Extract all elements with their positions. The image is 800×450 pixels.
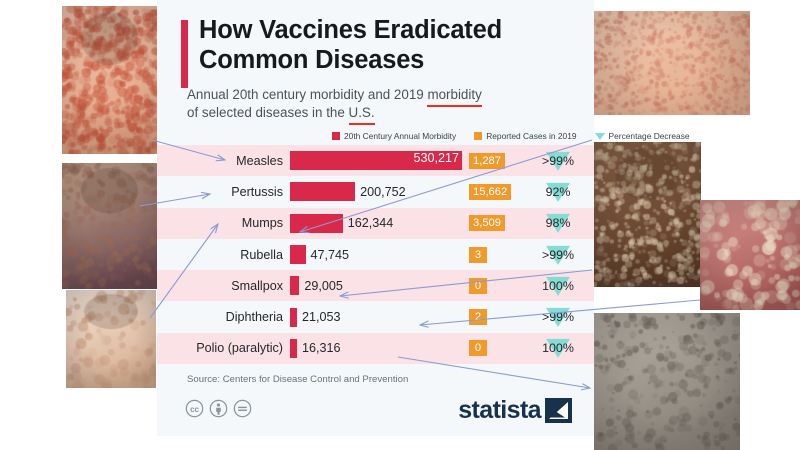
chart-legend: 20th Century Annual MorbidityReported Ca… bbox=[332, 131, 752, 141]
morbidity-bar bbox=[290, 182, 355, 201]
legend-item: Reported Cases in 2019 bbox=[474, 131, 576, 141]
morbidity-value: 16,316 bbox=[302, 341, 341, 355]
row-bar-zone: 47,745 bbox=[290, 239, 465, 270]
title-line-1: How Vaccines Eradicated bbox=[199, 16, 502, 44]
row-category-label: Polio (paralytic) bbox=[161, 341, 283, 355]
row-bar-zone: 162,344 bbox=[290, 208, 465, 239]
percentage-decrease-cell: >99% bbox=[525, 239, 591, 270]
decrease-value: 100% bbox=[542, 341, 574, 355]
creative-commons-icons: cc bbox=[185, 399, 252, 418]
morbidity-value: 47,745 bbox=[311, 248, 350, 262]
photo-smallpox-lesions bbox=[594, 142, 701, 287]
morbidity-bar bbox=[290, 214, 343, 233]
chart-row: Polio (paralytic)16,3160100% bbox=[157, 333, 594, 364]
cases-2019-badge: 15,662 bbox=[469, 184, 511, 200]
morbidity-value: 162,344 bbox=[348, 216, 394, 230]
percentage-decrease-cell: >99% bbox=[525, 145, 591, 176]
subtitle: Annual 20th century morbidity and 2019 m… bbox=[187, 86, 567, 122]
statista-infographic-card: How Vaccines Eradicated Common Diseases … bbox=[157, 0, 594, 436]
photo-polio-wheelchair bbox=[594, 313, 740, 450]
morbidity-value: 200,752 bbox=[360, 185, 406, 199]
subtitle-text-2: of selected diseases in the bbox=[187, 105, 349, 120]
teal-triangle-icon bbox=[595, 133, 605, 140]
cc-no-derivatives-icon bbox=[233, 399, 252, 418]
title-line-2: Common Diseases bbox=[199, 46, 424, 74]
chart-row: Smallpox29,0050100% bbox=[157, 270, 594, 301]
morbidity-bar: 530,217 bbox=[290, 151, 462, 170]
statista-mark-icon bbox=[545, 398, 572, 423]
row-category-label: Mumps bbox=[161, 216, 283, 230]
red-square-icon bbox=[332, 132, 340, 140]
row-category-label: Measles bbox=[161, 154, 283, 168]
row-bar-zone: 200,752 bbox=[290, 176, 465, 207]
chart-row: Measles530,2171,287>99% bbox=[157, 145, 594, 176]
row-bar-zone: 21,053 bbox=[290, 301, 465, 332]
photo-mumps-swollen-jaw bbox=[66, 290, 156, 388]
subtitle-underlined-us: U.S. bbox=[349, 104, 375, 122]
morbidity-value: 29,005 bbox=[304, 279, 343, 293]
page-title: How Vaccines Eradicated Common Diseases bbox=[181, 16, 566, 75]
row-category-label: Pertussis bbox=[161, 185, 283, 199]
screenshot-stage: How Vaccines Eradicated Common Diseases … bbox=[0, 0, 800, 450]
cases-2019-badge: 3 bbox=[469, 247, 487, 263]
legend-label: Reported Cases in 2019 bbox=[486, 131, 576, 141]
cases-2019-badge: 0 bbox=[469, 340, 487, 356]
morbidity-bar bbox=[290, 276, 299, 295]
morbidity-value: 21,053 bbox=[302, 310, 341, 324]
svg-text:cc: cc bbox=[190, 405, 199, 414]
statista-wordmark: statista bbox=[458, 398, 541, 423]
title-block: How Vaccines Eradicated Common Diseases bbox=[181, 16, 566, 75]
photo-pertussis-coughing-child bbox=[62, 163, 157, 289]
legend-item: Percentage Decrease bbox=[595, 131, 690, 141]
decrease-value: >99% bbox=[542, 154, 574, 168]
cc-attribution-icon bbox=[209, 399, 228, 418]
legend-item: 20th Century Annual Morbidity bbox=[332, 131, 456, 141]
row-bar-zone: 16,316 bbox=[290, 333, 465, 364]
creative-commons-icon: cc bbox=[185, 399, 204, 418]
photo-rubella-torso-rash bbox=[594, 11, 750, 115]
photo-diphtheria-throat bbox=[700, 200, 800, 310]
percentage-decrease-cell: >99% bbox=[525, 301, 591, 332]
decrease-value: 100% bbox=[542, 279, 574, 293]
row-bar-zone: 29,005 bbox=[290, 270, 465, 301]
cases-2019-badge: 3,509 bbox=[469, 215, 505, 231]
source-note: Source: Centers for Disease Control and … bbox=[187, 374, 408, 385]
chart-row: Pertussis200,75215,66292% bbox=[157, 176, 594, 207]
chart-row: Rubella47,7453>99% bbox=[157, 239, 594, 270]
decrease-value: 92% bbox=[546, 185, 571, 199]
row-category-label: Diphtheria bbox=[161, 310, 283, 324]
cases-2019-badge: 1,287 bbox=[469, 153, 505, 169]
percentage-decrease-cell: 100% bbox=[525, 333, 591, 364]
chart-row: Diphtheria21,0532>99% bbox=[157, 301, 594, 332]
chart-rows: Measles530,2171,287>99%Pertussis200,7521… bbox=[157, 145, 594, 364]
photo-measles-infant-rash bbox=[62, 6, 157, 154]
chart-row: Mumps162,3443,50998% bbox=[157, 208, 594, 239]
decrease-value: >99% bbox=[542, 248, 574, 262]
subtitle-text-1: Annual 20th century morbidity and 2019 bbox=[187, 87, 427, 102]
statista-logo: statista bbox=[458, 398, 572, 423]
cases-2019-badge: 2 bbox=[469, 309, 487, 325]
morbidity-bar bbox=[290, 308, 297, 327]
percentage-decrease-cell: 92% bbox=[525, 176, 591, 207]
morbidity-bar bbox=[290, 245, 306, 264]
legend-label: Percentage Decrease bbox=[609, 131, 690, 141]
orange-square-icon bbox=[474, 132, 482, 140]
percentage-decrease-cell: 98% bbox=[525, 208, 591, 239]
subtitle-underlined-morbidity: morbidity bbox=[427, 86, 481, 104]
title-accent-bar bbox=[181, 20, 188, 88]
morbidity-bar bbox=[290, 339, 297, 358]
cases-2019-badge: 0 bbox=[469, 278, 487, 294]
row-category-label: Smallpox bbox=[161, 279, 283, 293]
percentage-decrease-cell: 100% bbox=[525, 270, 591, 301]
decrease-value: >99% bbox=[542, 310, 574, 324]
decrease-value: 98% bbox=[546, 216, 571, 230]
legend-label: 20th Century Annual Morbidity bbox=[344, 131, 456, 141]
row-category-label: Rubella bbox=[161, 248, 283, 262]
morbidity-value: 530,217 bbox=[413, 151, 459, 165]
row-bar-zone: 530,217 bbox=[290, 145, 465, 176]
